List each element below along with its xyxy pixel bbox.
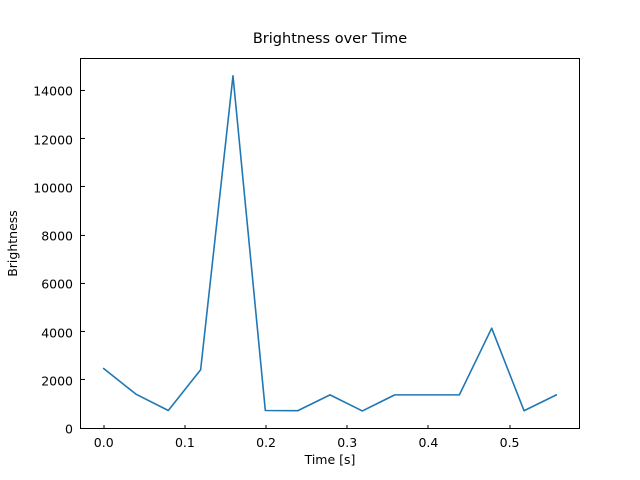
y-axis-tick-mark — [81, 186, 85, 187]
y-axis-tick-label: 2000 — [41, 373, 81, 388]
y-axis-title: Brightness — [4, 58, 20, 429]
y-axis-title-text: Brightness — [5, 210, 20, 277]
x-axis-tick-mark — [103, 425, 104, 429]
x-axis-tick-label: 0.3 — [337, 428, 357, 450]
y-axis-tick-mark — [81, 138, 85, 139]
x-axis-tick: 0.0 — [94, 428, 114, 450]
chart-figure: Brightness over Time Brightness 02000400… — [0, 0, 640, 480]
y-axis-tick: 12000 — [33, 129, 81, 148]
x-axis-tick-mark — [347, 425, 348, 429]
y-axis-tick-label: 12000 — [33, 132, 81, 147]
y-axis-tick: 8000 — [41, 226, 81, 245]
x-axis-tick-label: 0.0 — [94, 428, 114, 450]
x-axis-tick-label: 0.2 — [256, 428, 276, 450]
y-axis-tick-mark — [81, 90, 85, 91]
y-axis-tick-mark — [81, 283, 85, 284]
y-axis-tick: 6000 — [41, 274, 81, 293]
y-axis-tick-mark — [81, 379, 85, 380]
y-axis-tick-label: 8000 — [41, 229, 81, 244]
y-axis-tick-mark — [81, 331, 85, 332]
y-axis-tick-mark — [81, 235, 85, 236]
y-axis-tick-mark — [81, 428, 85, 429]
y-axis-tick-label: 0 — [65, 422, 81, 437]
x-axis-tick: 0.5 — [500, 428, 520, 450]
x-axis-tick-label: 0.1 — [175, 428, 195, 450]
x-axis-tick-label: 0.5 — [500, 428, 520, 450]
x-axis-tick: 0.4 — [418, 428, 438, 450]
x-axis-tick: 0.1 — [175, 428, 195, 450]
x-axis-title: Time [s] — [80, 452, 580, 467]
y-axis-tick: 0 — [65, 419, 81, 438]
x-axis-tick-mark — [509, 425, 510, 429]
x-axis-tick-mark — [428, 425, 429, 429]
y-axis-tick-label: 6000 — [41, 277, 81, 292]
y-axis-tick: 10000 — [33, 177, 81, 196]
x-axis-tick-mark — [266, 425, 267, 429]
y-axis-tick-label: 14000 — [33, 84, 81, 99]
y-axis-tick-label: 10000 — [33, 180, 81, 195]
x-axis-tick-mark — [184, 425, 185, 429]
y-axis-tick: 2000 — [41, 370, 81, 389]
y-axis-tick-label: 4000 — [41, 325, 81, 340]
y-axis-tick: 14000 — [33, 81, 81, 100]
chart-title: Brightness over Time — [80, 30, 580, 48]
x-axis-tick: 0.3 — [337, 428, 357, 450]
y-axis-tick: 4000 — [41, 322, 81, 341]
plot-area: 020004000600080001000012000140000.00.10.… — [80, 58, 580, 429]
line-series — [81, 59, 579, 428]
x-axis-tick-label: 0.4 — [418, 428, 438, 450]
x-axis-tick: 0.2 — [256, 428, 276, 450]
